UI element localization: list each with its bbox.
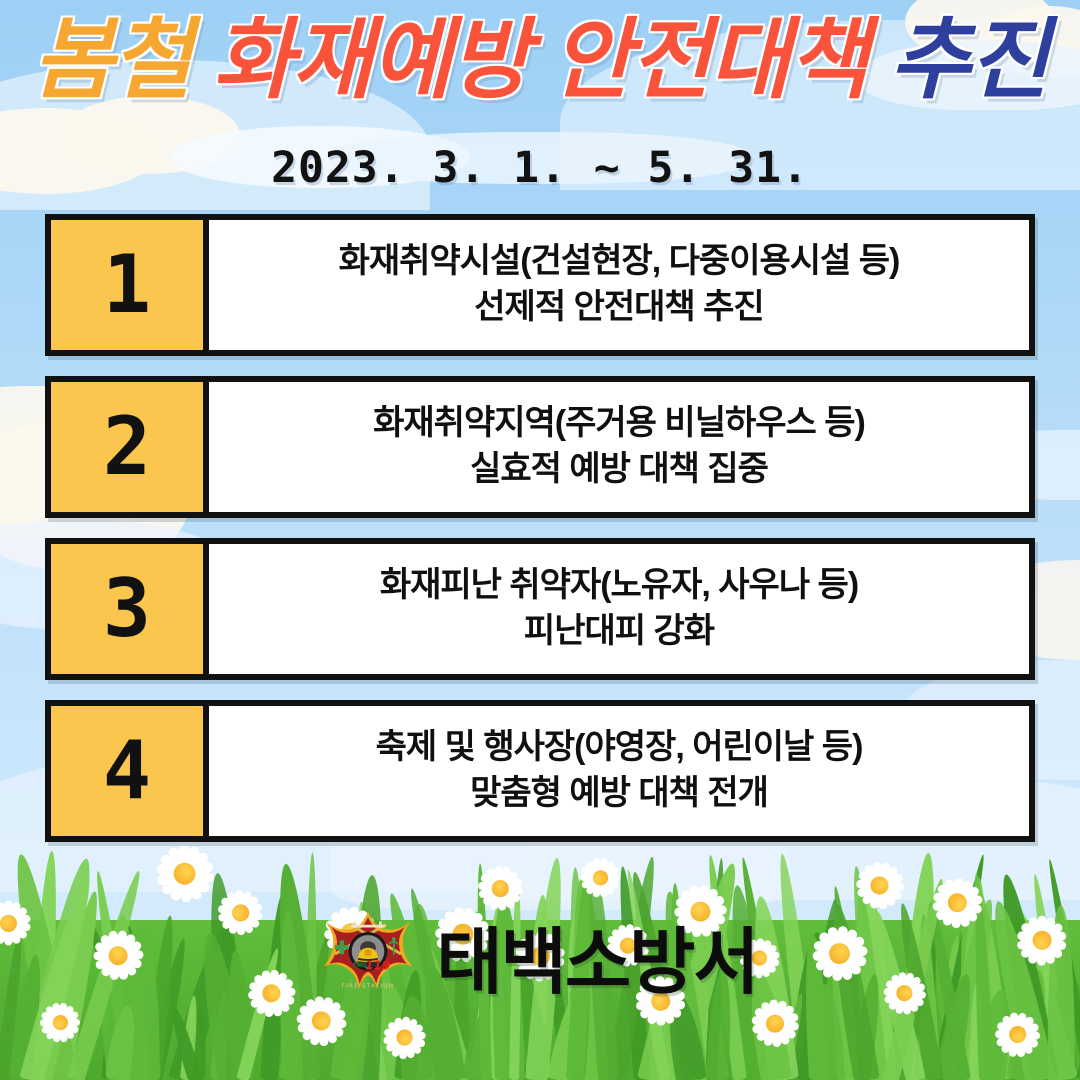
measure-line2-4: 맞춤형 예방 대책 전개 (470, 771, 768, 817)
svg-text:119: 119 (366, 958, 391, 972)
measure-row-4: 4 축제 및 행사장(야영장, 어린이날 등) 맞춤형 예방 대책 전개 (45, 700, 1035, 842)
measure-body-4: 축제 및 행사장(야영장, 어린이날 등) 맞춤형 예방 대책 전개 (209, 706, 1029, 836)
measure-number-2: 2 (51, 382, 209, 512)
measure-line2-1: 선제적 안전대책 추진 (474, 285, 763, 331)
measure-line2-2: 실효적 예방 대책 집중 (470, 447, 768, 493)
measure-body-3: 화재피난 취약자(노유자, 사우나 등) 피난대피 강화 (209, 544, 1029, 674)
svg-text:FIRE STATION: FIRE STATION (342, 983, 395, 989)
measures-list: 1 화재취약시설(건설현장, 다중이용시설 등) 선제적 안전대책 추진 2 화… (45, 214, 1035, 862)
measure-line1-3: 화재피난 취약자(노유자, 사우나 등) (380, 563, 858, 609)
measure-row-3: 3 화재피난 취약자(노유자, 사우나 등) 피난대피 강화 (45, 538, 1035, 680)
measure-line1-2: 화재취약지역(주거용 비닐하우스 등) (373, 401, 865, 447)
title-subject: 화재예방 안전대책 (213, 10, 867, 109)
footer-branding: EMS 119 FIRE STATION 태백소방서 (0, 903, 1080, 1008)
measure-row-2: 2 화재취약지역(주거용 비닐하우스 등) 실효적 예방 대책 집중 (45, 376, 1035, 518)
title-season: 봄철 (33, 10, 191, 109)
measure-line2-3: 피난대피 강화 (524, 609, 714, 655)
poster-date-range: 2023. 3. 1. ~ 5. 31. (0, 143, 1080, 193)
measure-number-1: 1 (51, 220, 209, 350)
measure-number-3: 3 (51, 544, 209, 674)
measure-body-2: 화재취약지역(주거용 비닐하우스 등) 실효적 예방 대책 집중 (209, 382, 1029, 512)
measure-line1-4: 축제 및 행사장(야영장, 어린이날 등) (376, 725, 863, 771)
title-action: 추진 (890, 10, 1048, 109)
measure-line1-1: 화재취약시설(건설현장, 다중이용시설 등) (339, 239, 900, 285)
measure-body-1: 화재취약시설(건설현장, 다중이용시설 등) 선제적 안전대책 추진 (209, 220, 1029, 350)
measure-row-1: 1 화재취약시설(건설현장, 다중이용시설 등) 선제적 안전대책 추진 (45, 214, 1035, 356)
poster-canvas: 봄철 화재예방 안전대책 추진 2023. 3. 1. ~ 5. 31. 1 화… (0, 0, 1080, 1080)
organization-name: 태백소방서 (436, 903, 757, 1008)
measure-number-4: 4 (51, 706, 209, 836)
fire-department-maltese-cross-badge: EMS 119 FIRE STATION (322, 910, 414, 1002)
daisy-flower (380, 1013, 430, 1063)
poster-title: 봄철 화재예방 안전대책 추진 (0, 14, 1080, 106)
